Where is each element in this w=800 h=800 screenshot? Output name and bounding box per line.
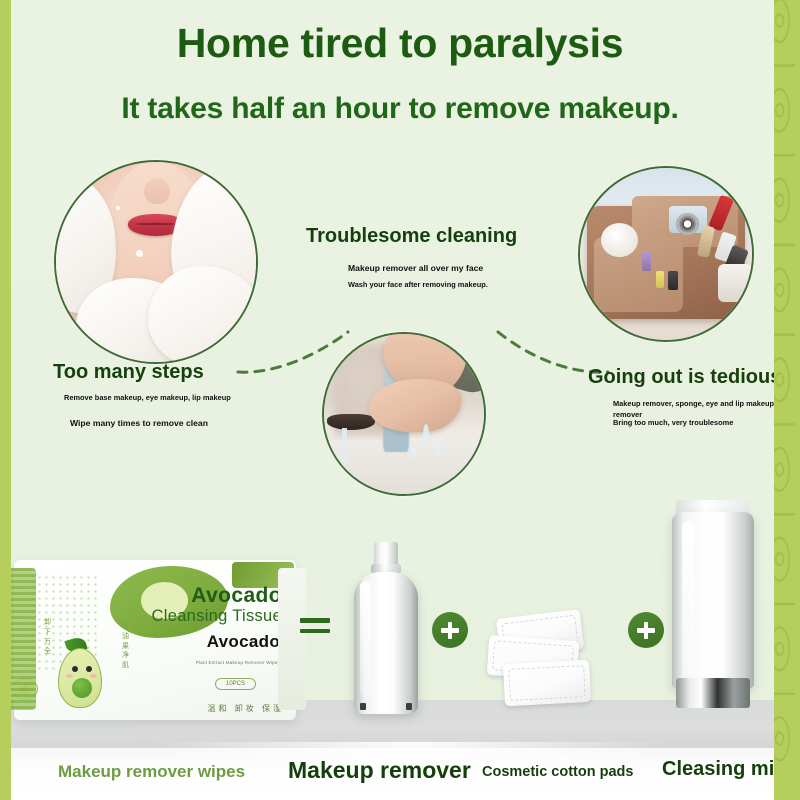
callout-text-steps-line2: Wipe many times to remove clean: [70, 417, 270, 430]
product-bottle-remover: [352, 542, 420, 714]
product-package-wipes: 卸下万全 牛油果净肌 Avocado Cleansing Tissue Avoc…: [14, 560, 296, 720]
callout-heading-going-out-tedious: Going out is tedious: [588, 366, 781, 389]
product-cleansing-milk-tube: [672, 500, 754, 712]
callout-text-cleaning-line2: Wash your face after removing makeup.: [348, 279, 508, 290]
plus-icon-2: [628, 612, 664, 648]
package-tagline: Plant Extract Makeup Remover Wipes: [196, 660, 280, 665]
callout-heading-too-many-steps: Too many steps: [53, 361, 204, 384]
photo-circle-cosmetic-case: [578, 166, 754, 342]
product-label-remover: Makeup remover: [288, 757, 471, 784]
page-title: Home tired to paralysis: [0, 20, 800, 67]
decorative-border-right: [774, 0, 800, 800]
product-label-cotton-pads: Cosmetic cotton pads: [482, 764, 633, 780]
shelf-surface-left: [11, 722, 131, 748]
equals-icon: [300, 618, 330, 636]
infographic-poster: Home tired to paralysis It takes half an…: [0, 0, 800, 800]
photo-circle-hand-washing: [322, 332, 486, 496]
callout-text-steps-line1: Remove base makeup, eye makeup, lip make…: [64, 392, 249, 403]
callout-text-cleaning-line1: Makeup remover all over my face: [348, 262, 563, 275]
product-label-cleansing-milk: Cleasing milk: [662, 758, 791, 781]
package-title: Avocado: [191, 584, 282, 608]
plus-icon-1: [432, 612, 468, 648]
decorative-border-left: [0, 0, 11, 800]
package-cn-features: 温和 卸妆 保湿: [208, 703, 284, 714]
package-count-badge: 10PCS: [215, 678, 256, 690]
product-label-wipes: Makeup remover wipes: [58, 762, 245, 782]
package-cn-text-left: 卸下万全: [44, 618, 51, 657]
package-brand: Avocado: [207, 632, 280, 652]
package-seal-right: [278, 568, 306, 710]
package-cn-text-mid: 牛油果净肌: [122, 622, 129, 671]
product-cotton-pads: [488, 614, 598, 710]
package-subtitle: Cleansing Tissue: [152, 607, 282, 626]
avocado-mascot-icon: [50, 638, 108, 712]
callout-heading-troublesome-cleaning: Troublesome cleaning: [306, 225, 517, 248]
photo-circle-washing-face: [54, 160, 258, 364]
callout-text-tedious-line2: Bring too much, very troublesome: [613, 417, 788, 428]
page-subtitle: It takes half an hour to remove makeup.: [0, 92, 800, 126]
